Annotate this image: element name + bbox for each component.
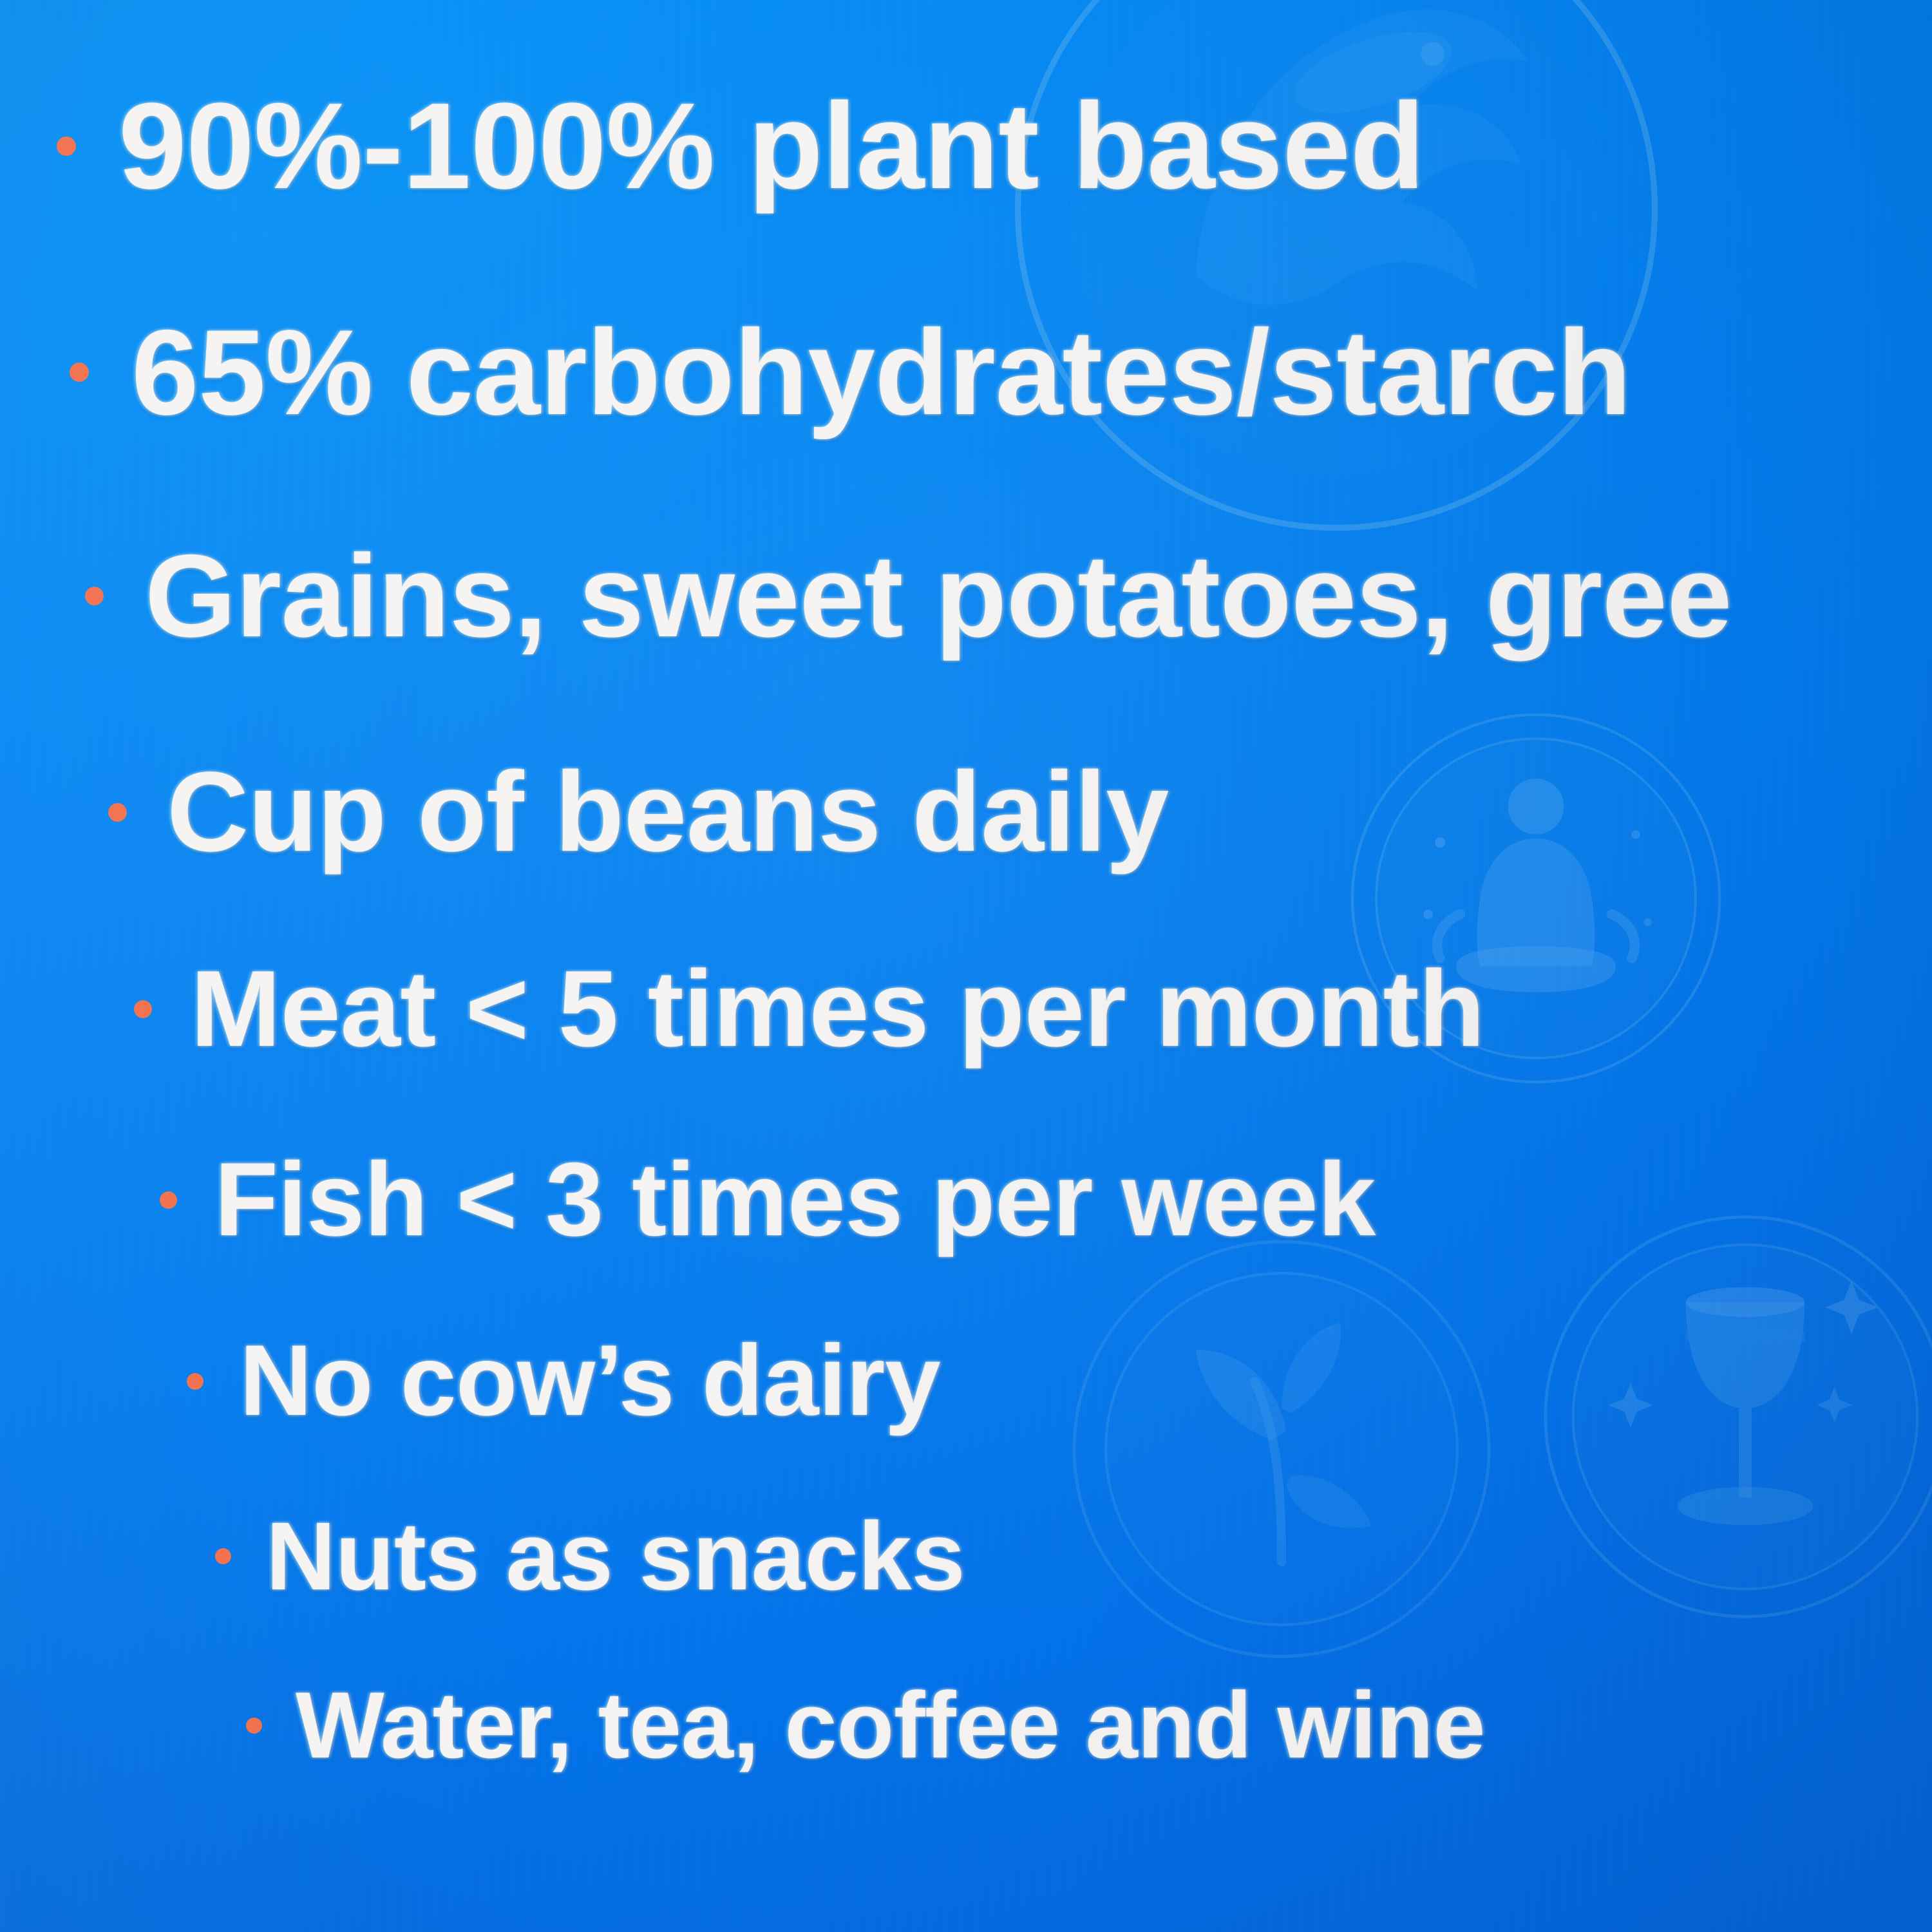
bullet-label: No cow’s dairy [240, 1323, 940, 1439]
bullet-label: 90%-100% plant based [118, 76, 1425, 216]
bullet-label: Fish < 3 times per week [214, 1140, 1376, 1260]
bullet-dot-icon [70, 363, 89, 382]
list-item[interactable]: No cow’s dairy [187, 1323, 940, 1439]
list-item[interactable]: Nuts as snacks [215, 1501, 965, 1612]
bullet-dot-icon [85, 587, 104, 605]
bullet-dot-icon [134, 1000, 152, 1018]
diet-guidelines-bullet-list: 90%-100% plant based 65% carbohydrates/s… [0, 0, 1932, 1932]
list-item[interactable]: Cup of beans daily [108, 747, 1169, 877]
bullet-dot-icon [187, 1373, 204, 1390]
list-item[interactable]: Water, tea, coffee and wine [246, 1671, 1485, 1779]
bullet-dot-icon [215, 1548, 231, 1564]
bullet-dot-icon [160, 1191, 177, 1209]
list-item[interactable]: 90%-100% plant based [57, 76, 1425, 216]
bullet-label: Nuts as snacks [266, 1501, 965, 1612]
bullet-dot-icon [108, 803, 127, 822]
bullet-label: Water, tea, coffee and wine [296, 1671, 1485, 1779]
list-item[interactable]: 65% carbohydrates/starch [70, 303, 1631, 442]
bullet-dot-icon [246, 1718, 262, 1734]
bullet-label: Grains, sweet potatoes, gree [145, 528, 1732, 663]
list-item[interactable]: Fish < 3 times per week [160, 1140, 1376, 1260]
bullet-label: 65% carbohydrates/starch [131, 303, 1631, 442]
bullet-dot-icon [57, 137, 76, 156]
list-item[interactable]: Meat < 5 times per month [134, 947, 1484, 1071]
list-item[interactable]: Grains, sweet potatoes, gree [85, 528, 1732, 663]
bullet-label: Meat < 5 times per month [191, 947, 1484, 1071]
bullet-label: Cup of beans daily [167, 747, 1169, 877]
presentation-slide: 90%-100% plant based 65% carbohydrates/s… [0, 0, 1932, 1932]
